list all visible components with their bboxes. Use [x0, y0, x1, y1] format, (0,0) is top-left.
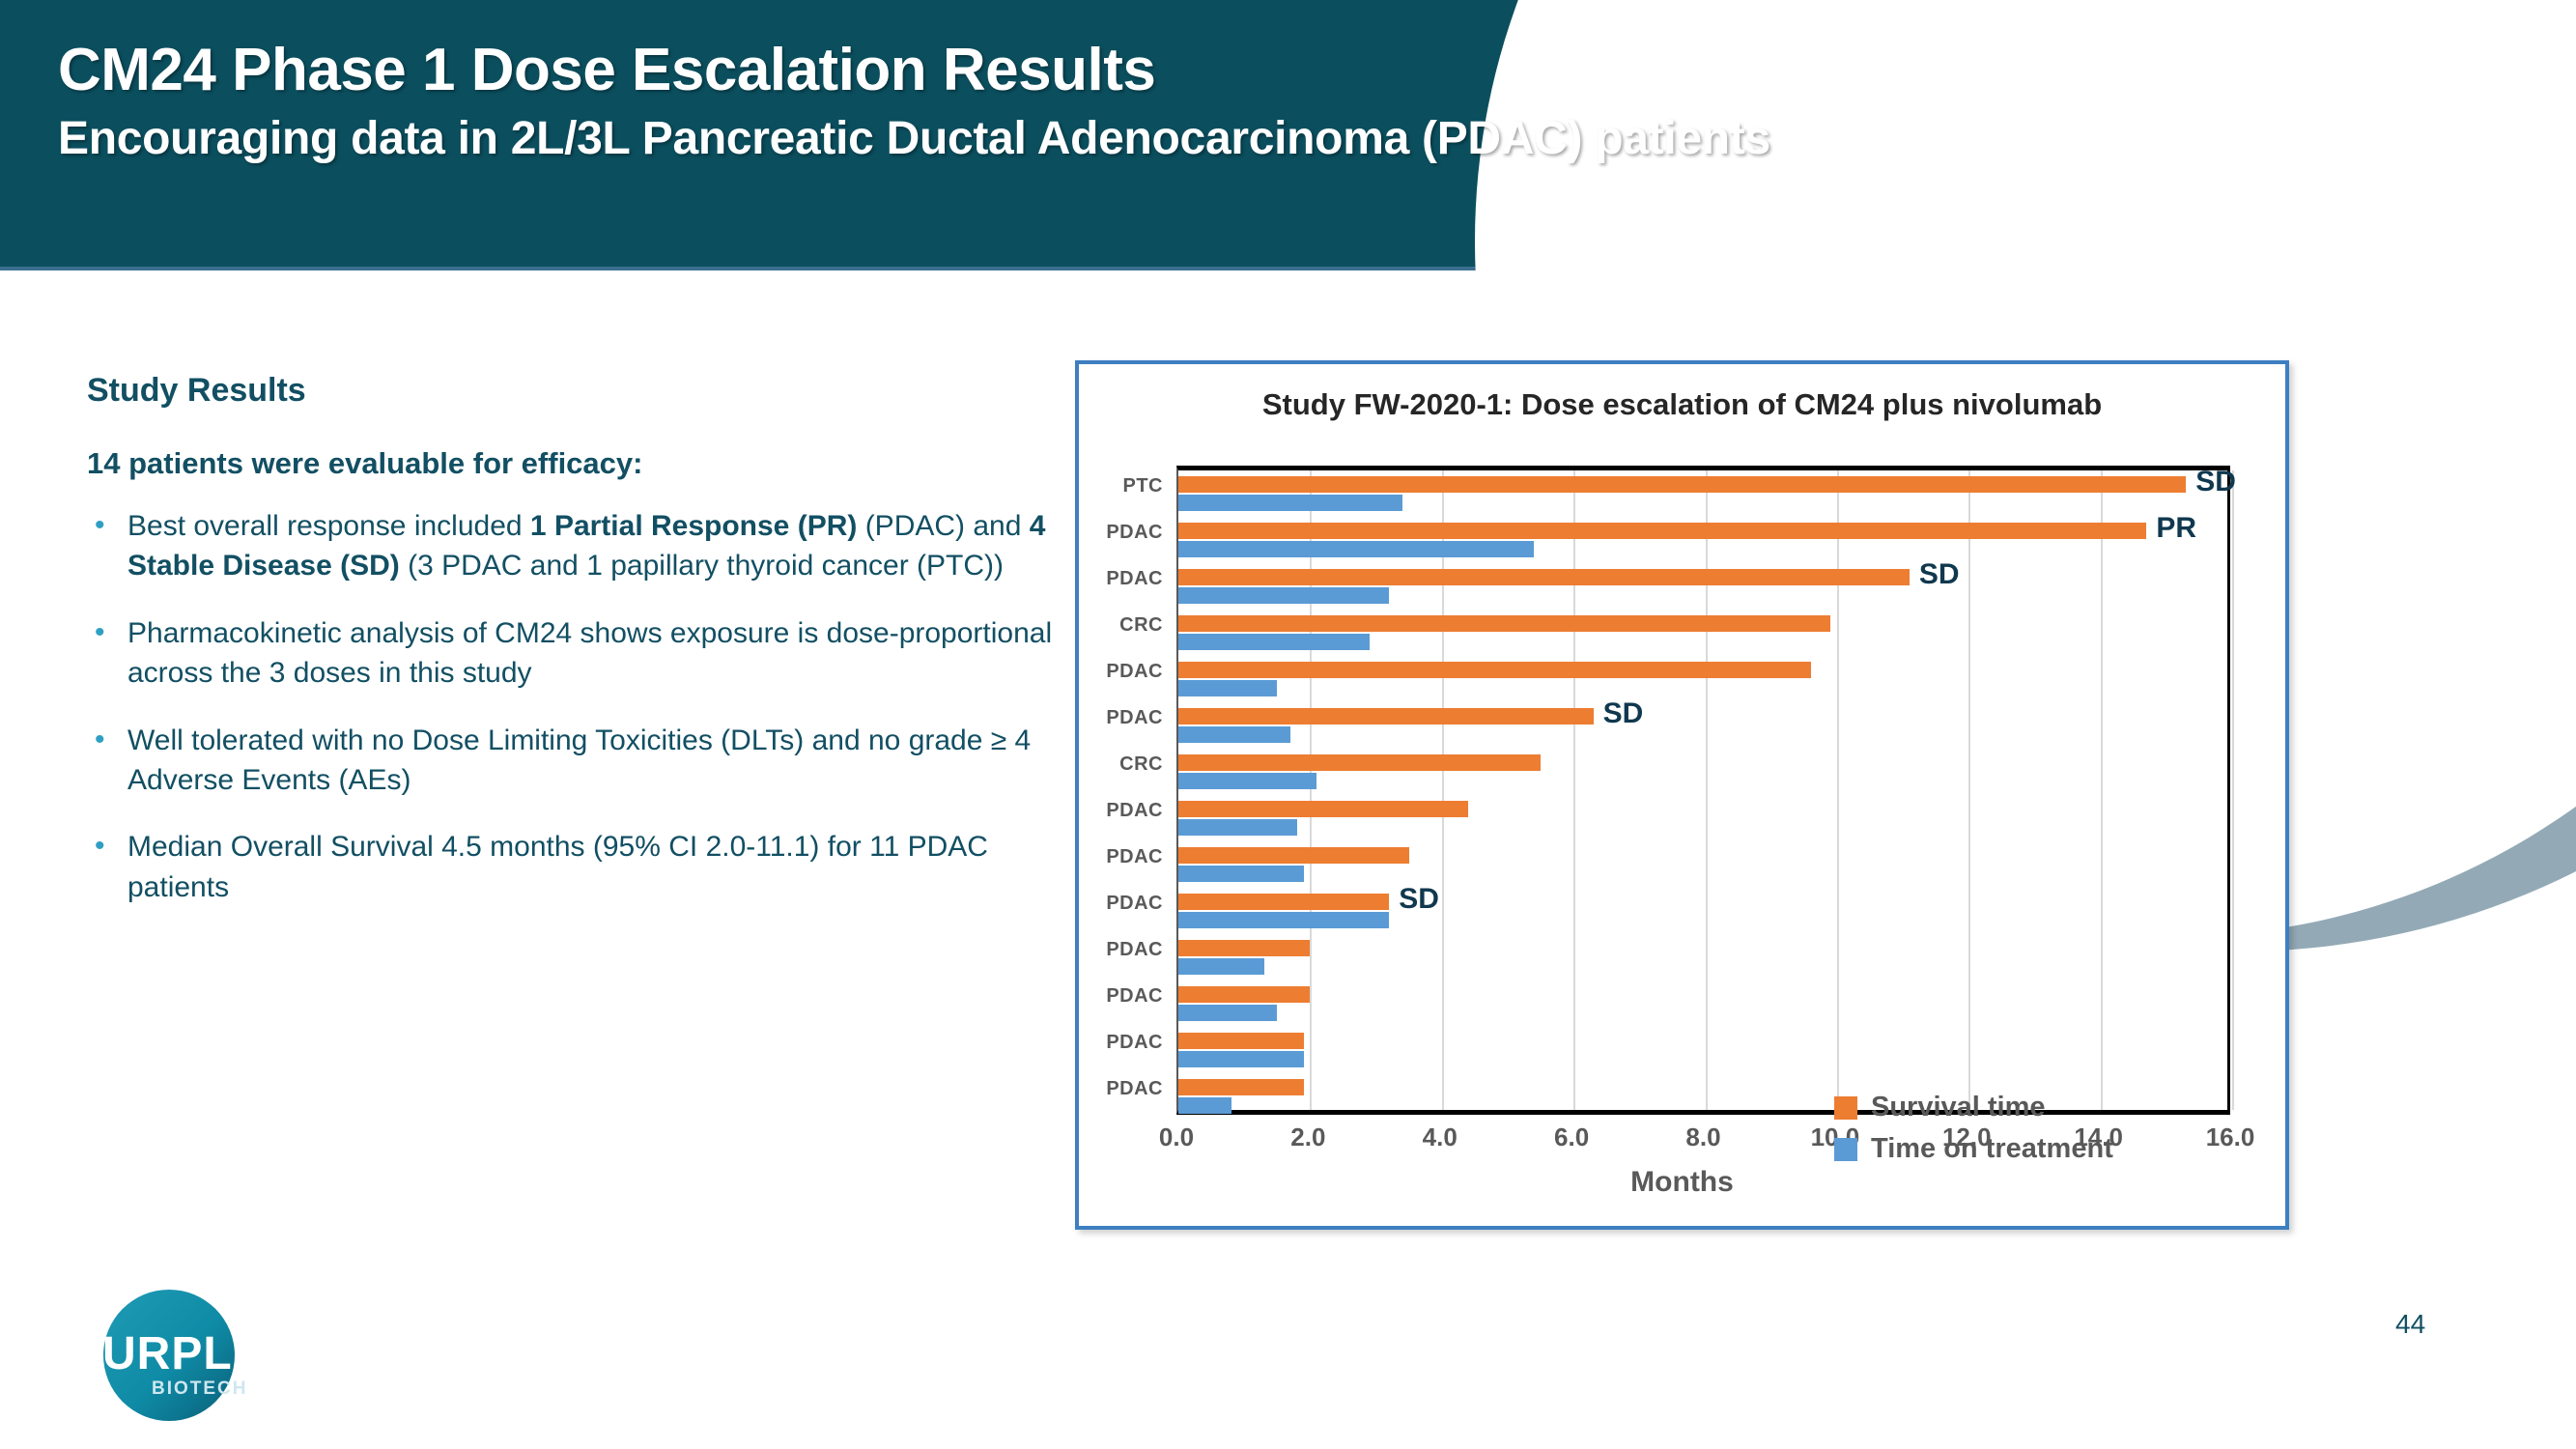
- category-label: PDAC: [1106, 985, 1163, 1008]
- category-label: PTC: [1123, 475, 1164, 497]
- bar-group: [1178, 801, 2227, 836]
- bar-survival-time: [1178, 523, 2146, 539]
- bullet-item: •Median Overall Survival 4.5 months (95%…: [87, 827, 1053, 907]
- category-label: PDAC: [1106, 1032, 1163, 1054]
- bar-time-on-treatment: [1178, 680, 1277, 696]
- legend-swatch-icon: [1834, 1096, 1857, 1120]
- legend-swatch-icon: [1834, 1138, 1857, 1161]
- bar-time-on-treatment: [1178, 541, 1534, 557]
- response-annotation: SD: [1399, 883, 1439, 916]
- bar-survival-time: [1178, 847, 1409, 864]
- bar-time-on-treatment: [1178, 634, 1370, 650]
- category-label: CRC: [1119, 753, 1163, 776]
- bar-survival-time: [1178, 708, 1594, 724]
- category-label: PDAC: [1106, 707, 1163, 729]
- category-label: PDAC: [1106, 800, 1163, 822]
- page-number: 44: [2395, 1309, 2425, 1340]
- bar-survival-time: [1178, 754, 1541, 771]
- bullet-item: •Best overall response included 1 Partia…: [87, 506, 1053, 586]
- bar-survival-time: [1178, 1033, 1304, 1049]
- bullet-text: Pharmacokinetic analysis of CM24 shows e…: [127, 613, 1053, 694]
- chart-card: Study FW-2020-1: Dose escalation of CM24…: [1075, 360, 2289, 1230]
- x-tick-label: 0.0: [1159, 1122, 1194, 1152]
- bullet-text: Median Overall Survival 4.5 months (95% …: [127, 827, 1053, 907]
- bar-group: [1178, 569, 2227, 604]
- section-heading: Study Results: [87, 372, 1053, 410]
- bar-survival-time: [1178, 801, 1468, 817]
- bar-time-on-treatment: [1178, 495, 1402, 511]
- bar-time-on-treatment: [1178, 1051, 1304, 1067]
- bar-group: [1178, 615, 2227, 650]
- bar-time-on-treatment: [1178, 726, 1290, 743]
- x-tick-label: 6.0: [1554, 1122, 1589, 1152]
- legend-item: Survival time: [1834, 1092, 2113, 1123]
- bar-time-on-treatment: [1178, 587, 1389, 604]
- category-label: CRC: [1119, 614, 1163, 637]
- bar-group: [1178, 754, 2227, 789]
- response-annotation: SD: [2195, 466, 2236, 498]
- page-title: CM24 Phase 1 Dose Escalation Results: [58, 39, 1770, 101]
- bar-group: [1178, 708, 2227, 743]
- title-block: CM24 Phase 1 Dose Escalation Results Enc…: [58, 39, 1770, 165]
- bar-time-on-treatment: [1178, 912, 1389, 928]
- logo-primary-text: PURPLE: [72, 1328, 265, 1379]
- bullet-point-icon: •: [87, 827, 127, 907]
- bullet-text: Best overall response included 1 Partial…: [127, 506, 1053, 586]
- bullet-text: Well tolerated with no Dose Limiting Tox…: [127, 721, 1053, 801]
- bar-survival-time: [1178, 569, 1910, 585]
- bar-time-on-treatment: [1178, 958, 1264, 975]
- bar-survival-time: [1178, 940, 1310, 956]
- x-tick-label: 2.0: [1290, 1122, 1325, 1152]
- plot-area: [1176, 466, 2230, 1115]
- bullet-point-icon: •: [87, 506, 127, 586]
- bullet-list: •Best overall response included 1 Partia…: [87, 506, 1053, 907]
- category-label: PDAC: [1106, 939, 1163, 961]
- plot-wrapper: PTCPDACPDACCRCPDACPDACCRCPDACPDACPDACPDA…: [1079, 446, 2285, 1142]
- chart-legend: Survival timeTime on treatment: [1834, 1092, 2113, 1175]
- logo-secondary-text: BIOTECH: [152, 1378, 248, 1399]
- bar-group: [1178, 1033, 2227, 1067]
- bar-survival-time: [1178, 1079, 1304, 1095]
- bar-group: [1178, 894, 2227, 928]
- bar-survival-time: [1178, 476, 2186, 493]
- chart-title: Study FW-2020-1: Dose escalation of CM24…: [1079, 387, 2285, 422]
- bar-group: [1178, 662, 2227, 696]
- bar-group: [1178, 523, 2227, 557]
- study-results-section: Study Results 14 patients were evaluable…: [87, 372, 1053, 934]
- bar-group: [1178, 986, 2227, 1021]
- category-label: PDAC: [1106, 661, 1163, 683]
- evaluable-patients-line: 14 patients were evaluable for efficacy:: [87, 446, 1053, 481]
- legend-label: Survival time: [1871, 1092, 2046, 1123]
- bullet-point-icon: •: [87, 613, 127, 694]
- response-annotation: PR: [2156, 512, 2196, 545]
- category-label: PDAC: [1106, 893, 1163, 915]
- bullet-item: •Pharmacokinetic analysis of CM24 shows …: [87, 613, 1053, 694]
- legend-label: Time on treatment: [1871, 1133, 2113, 1165]
- bar-survival-time: [1178, 894, 1389, 910]
- bar-time-on-treatment: [1178, 819, 1297, 836]
- bar-time-on-treatment: [1178, 1097, 1231, 1114]
- bar-time-on-treatment: [1178, 866, 1304, 882]
- category-label: PDAC: [1106, 1078, 1163, 1100]
- bullet-point-icon: •: [87, 721, 127, 801]
- x-tick-label: 16.0: [2206, 1122, 2255, 1152]
- bar-series-container: [1178, 470, 2227, 1110]
- category-label: PDAC: [1106, 846, 1163, 868]
- legend-item: Time on treatment: [1834, 1133, 2113, 1165]
- purple-biotech-logo: PURPLE BIOTECH: [72, 1280, 266, 1435]
- bar-group: [1178, 476, 2227, 511]
- bar-group: [1178, 847, 2227, 882]
- page-subtitle: Encouraging data in 2L/3L Pancreatic Duc…: [58, 113, 1770, 165]
- bar-group: [1178, 940, 2227, 975]
- category-label: PDAC: [1106, 522, 1163, 544]
- bar-time-on-treatment: [1178, 773, 1316, 789]
- gridline: [2232, 470, 2234, 1110]
- category-label: PDAC: [1106, 568, 1163, 590]
- response-annotation: SD: [1603, 697, 1644, 730]
- bar-survival-time: [1178, 662, 1811, 678]
- bar-survival-time: [1178, 986, 1310, 1003]
- bar-time-on-treatment: [1178, 1005, 1277, 1021]
- x-tick-label: 4.0: [1423, 1122, 1458, 1152]
- bar-survival-time: [1178, 615, 1830, 632]
- bullet-item: •Well tolerated with no Dose Limiting To…: [87, 721, 1053, 801]
- x-tick-label: 8.0: [1685, 1122, 1720, 1152]
- response-annotation: SD: [1919, 558, 1960, 591]
